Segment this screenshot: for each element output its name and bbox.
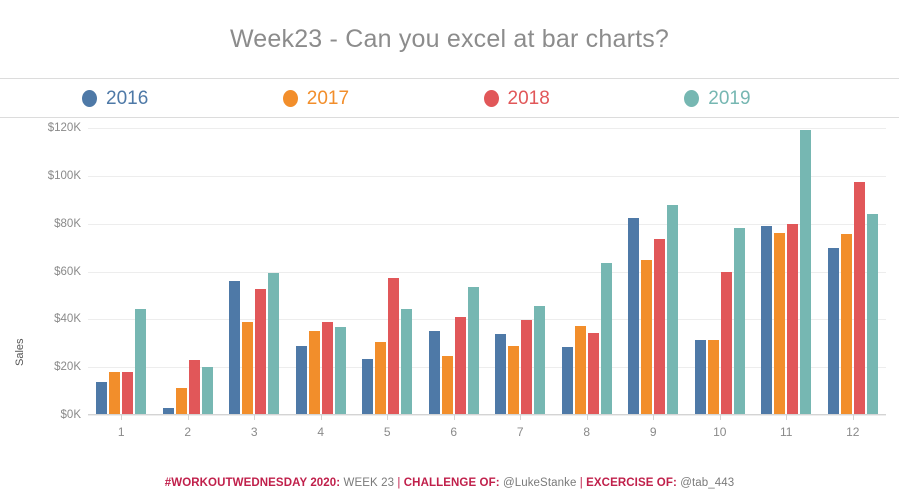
x-axis-line bbox=[88, 414, 886, 415]
bar-group-1: 1 bbox=[88, 128, 155, 415]
legend-item-label: 2016 bbox=[106, 89, 148, 108]
bar-2018-6[interactable] bbox=[455, 317, 466, 415]
bar-2016-4[interactable] bbox=[296, 346, 307, 415]
x-axis-tick-label: 5 bbox=[354, 425, 421, 439]
gridline: $0K bbox=[88, 415, 886, 416]
bar-group-7: 7 bbox=[487, 128, 554, 415]
x-axis-tick-label: 10 bbox=[687, 425, 754, 439]
bar-2018-11[interactable] bbox=[787, 224, 798, 415]
bar-2017-7[interactable] bbox=[508, 346, 519, 415]
bar-2018-8[interactable] bbox=[588, 333, 599, 416]
x-axis-tickmark bbox=[853, 415, 854, 420]
bar-2018-7[interactable] bbox=[521, 320, 532, 415]
bar-2017-2[interactable] bbox=[176, 388, 187, 416]
x-axis-tick-label: 6 bbox=[421, 425, 488, 439]
x-axis-tickmark bbox=[520, 415, 521, 420]
legend-item-2019[interactable]: 2019 bbox=[684, 89, 885, 108]
legend-item-2017[interactable]: 2017 bbox=[283, 89, 484, 108]
bar-2019-8[interactable] bbox=[601, 263, 612, 415]
x-axis-tickmark bbox=[653, 415, 654, 420]
bar-2016-11[interactable] bbox=[761, 226, 772, 415]
bar-2016-9[interactable] bbox=[628, 218, 639, 415]
bar-2016-12[interactable] bbox=[828, 248, 839, 415]
bar-2018-5[interactable] bbox=[388, 278, 399, 415]
bar-2019-1[interactable] bbox=[135, 309, 146, 415]
y-axis-title: Sales bbox=[14, 338, 26, 366]
bar-2018-1[interactable] bbox=[122, 372, 133, 415]
x-axis-tick-label: 12 bbox=[820, 425, 887, 439]
bar-2016-1[interactable] bbox=[96, 382, 107, 415]
bar-2016-5[interactable] bbox=[362, 359, 373, 415]
bar-2019-7[interactable] bbox=[534, 306, 545, 415]
bar-2017-11[interactable] bbox=[774, 233, 785, 415]
x-axis-tick-label: 9 bbox=[620, 425, 687, 439]
y-axis-tick-label: $0K bbox=[61, 409, 81, 421]
x-axis-tick-label: 11 bbox=[753, 425, 820, 439]
bar-group-5: 5 bbox=[354, 128, 421, 415]
y-axis-tick-label: $60K bbox=[54, 266, 81, 278]
x-axis-tick-label: 1 bbox=[88, 425, 155, 439]
x-axis-tickmark bbox=[587, 415, 588, 420]
bar-group-6: 6 bbox=[421, 128, 488, 415]
footer-exercise-label: EXCERCISE OF: bbox=[583, 477, 680, 489]
bar-2018-9[interactable] bbox=[654, 239, 665, 415]
bar-2018-12[interactable] bbox=[854, 182, 865, 415]
bar-2016-6[interactable] bbox=[429, 331, 440, 415]
footer-credits: #WORKOUTWEDNESDAY 2020: WEEK 23 | CHALLE… bbox=[0, 477, 899, 489]
bar-2019-6[interactable] bbox=[468, 287, 479, 415]
footer-exercise-handle: @tab_443 bbox=[680, 477, 734, 489]
circle-icon bbox=[484, 90, 499, 107]
legend-item-label: 2017 bbox=[307, 89, 349, 108]
bar-2017-5[interactable] bbox=[375, 342, 386, 415]
bar-group-4: 4 bbox=[288, 128, 355, 415]
legend-item-2016[interactable]: 2016 bbox=[82, 89, 283, 108]
footer-challenge-label: CHALLENGE OF: bbox=[400, 477, 502, 489]
x-axis-tick-label: 7 bbox=[487, 425, 554, 439]
page-title: Week23 - Can you excel at bar charts? bbox=[230, 25, 669, 54]
x-axis-tickmark bbox=[454, 415, 455, 420]
bar-2017-4[interactable] bbox=[309, 331, 320, 415]
x-axis-tickmark bbox=[254, 415, 255, 420]
bar-2018-2[interactable] bbox=[189, 360, 200, 415]
bar-group-9: 9 bbox=[620, 128, 687, 415]
x-axis-tick-label: 4 bbox=[288, 425, 355, 439]
x-axis-tick-label: 2 bbox=[155, 425, 222, 439]
circle-icon bbox=[82, 90, 97, 107]
bar-2019-4[interactable] bbox=[335, 327, 346, 415]
bar-2019-2[interactable] bbox=[202, 367, 213, 415]
bar-group-11: 11 bbox=[753, 128, 820, 415]
footer-challenge-handle: @LukeStanke bbox=[503, 477, 580, 489]
y-axis-tick-label: $100K bbox=[48, 170, 81, 182]
y-axis-tick-label: $80K bbox=[54, 218, 81, 230]
circle-icon bbox=[283, 90, 298, 107]
bar-2019-12[interactable] bbox=[867, 214, 878, 415]
bar-2017-9[interactable] bbox=[641, 260, 652, 415]
y-axis-tick-label: $120K bbox=[48, 122, 81, 134]
bar-2017-12[interactable] bbox=[841, 234, 852, 415]
chart-legend: 2016201720182019 bbox=[0, 78, 899, 118]
circle-icon bbox=[684, 90, 699, 107]
x-axis-tickmark bbox=[321, 415, 322, 420]
footer-week: WEEK 23 bbox=[340, 477, 397, 489]
legend-item-2018[interactable]: 2018 bbox=[484, 89, 685, 108]
bar-2019-5[interactable] bbox=[401, 309, 412, 415]
bar-2017-10[interactable] bbox=[708, 340, 719, 415]
bar-group-8: 8 bbox=[554, 128, 621, 415]
x-axis-tick-label: 3 bbox=[221, 425, 288, 439]
x-axis-tickmark bbox=[786, 415, 787, 420]
bar-2016-8[interactable] bbox=[562, 347, 573, 415]
chart-page: Week23 - Can you excel at bar charts? 20… bbox=[0, 0, 899, 499]
bar-2019-11[interactable] bbox=[800, 130, 811, 415]
legend-item-label: 2019 bbox=[708, 89, 750, 108]
x-axis-tickmark bbox=[121, 415, 122, 420]
title-bar: Week23 - Can you excel at bar charts? bbox=[0, 0, 899, 78]
legend-item-label: 2018 bbox=[508, 89, 550, 108]
bar-group-2: 2 bbox=[155, 128, 222, 415]
bar-2016-10[interactable] bbox=[695, 340, 706, 415]
bar-2018-3[interactable] bbox=[255, 289, 266, 415]
bar-group-10: 10 bbox=[687, 128, 754, 415]
bar-2018-4[interactable] bbox=[322, 322, 333, 415]
bar-2016-7[interactable] bbox=[495, 334, 506, 415]
bar-2016-3[interactable] bbox=[229, 281, 240, 415]
bar-groups: 123456789101112 bbox=[88, 128, 886, 415]
bar-2017-6[interactable] bbox=[442, 356, 453, 415]
y-axis-tick-label: $20K bbox=[54, 361, 81, 373]
y-axis-tick-label: $40K bbox=[54, 313, 81, 325]
bar-2017-1[interactable] bbox=[109, 372, 120, 415]
bar-2018-10[interactable] bbox=[721, 272, 732, 416]
x-axis-tickmark bbox=[387, 415, 388, 420]
bar-2017-8[interactable] bbox=[575, 326, 586, 415]
x-axis-tickmark bbox=[720, 415, 721, 420]
bar-2019-10[interactable] bbox=[734, 228, 745, 415]
bar-group-3: 3 bbox=[221, 128, 288, 415]
bar-2019-3[interactable] bbox=[268, 273, 279, 415]
plot-area: $0K$20K$40K$60K$80K$100K$120K 1234567891… bbox=[88, 128, 886, 415]
x-axis-tickmark bbox=[188, 415, 189, 420]
x-axis-tick-label: 8 bbox=[554, 425, 621, 439]
bar-group-12: 12 bbox=[820, 128, 887, 415]
footer-hashtag: #WORKOUTWEDNESDAY 2020: bbox=[165, 477, 340, 489]
bar-2017-3[interactable] bbox=[242, 322, 253, 415]
chart-area: Sales $0K$20K$40K$60K$80K$100K$120K 1234… bbox=[0, 118, 899, 460]
bar-2019-9[interactable] bbox=[667, 205, 678, 415]
